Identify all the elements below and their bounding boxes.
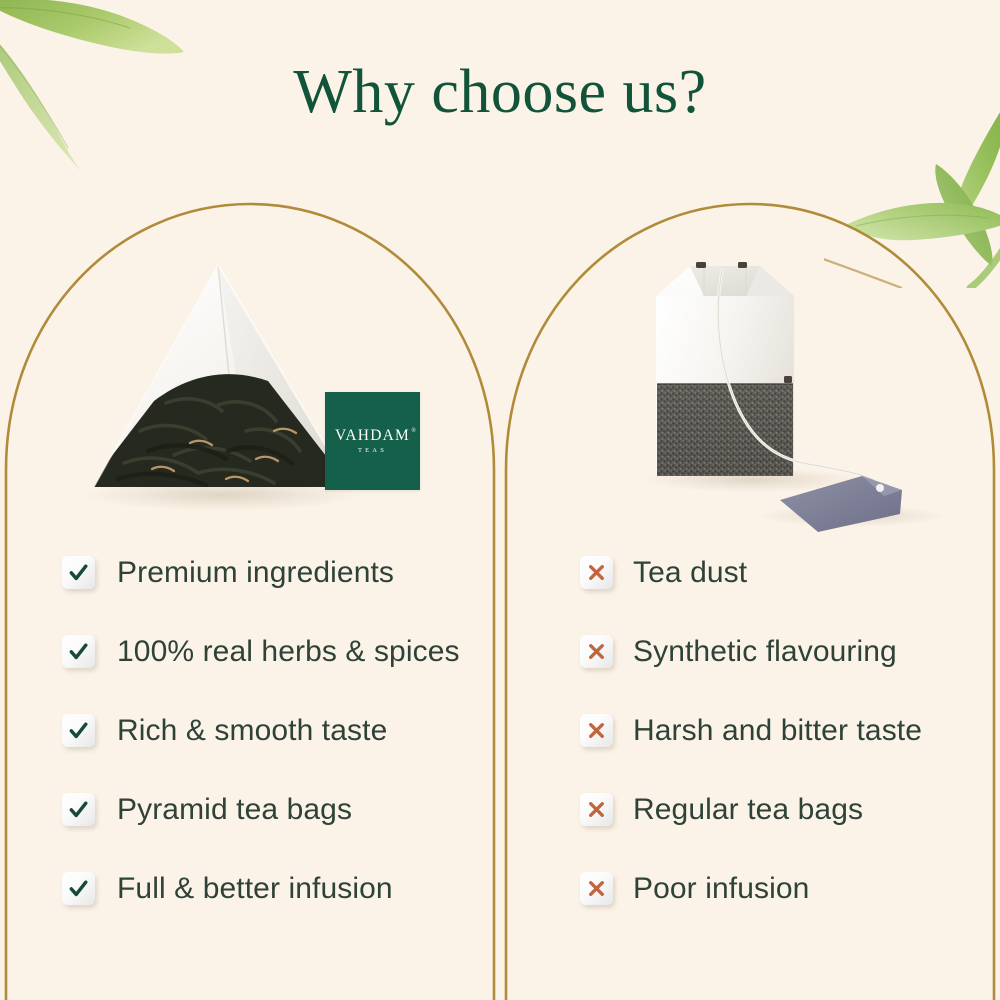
list-item: Regular tea bags (580, 770, 990, 849)
cross-icon (580, 556, 613, 589)
list-item-label: Poor infusion (633, 872, 809, 906)
list-item-label: Pyramid tea bags (117, 793, 352, 827)
benefits-list-vahdam: Premium ingredients 100% real herbs & sp… (62, 533, 492, 928)
list-item: Full & better infusion (62, 849, 492, 928)
check-icon (62, 556, 95, 589)
list-item: Synthetic flavouring (580, 612, 990, 691)
cross-icon (580, 793, 613, 826)
check-icon (62, 635, 95, 668)
drawbacks-list-others: Tea dust Synthetic flavouring Harsh and … (580, 533, 990, 928)
list-item: Rich & smooth taste (62, 691, 492, 770)
list-item: Tea dust (580, 533, 990, 612)
list-item-label: Tea dust (633, 556, 747, 590)
list-item-label: Full & better infusion (117, 872, 393, 906)
list-item: 100% real herbs & spices (62, 612, 492, 691)
why-choose-us-panel: Why choose us? (0, 0, 1000, 1000)
list-item-label: Premium ingredients (117, 556, 394, 590)
list-item-label: Synthetic flavouring (633, 635, 897, 669)
list-item: Premium ingredients (62, 533, 492, 612)
vahdam-logo-badge: VAHDAM® TEAS (325, 392, 420, 490)
list-item: Pyramid tea bags (62, 770, 492, 849)
list-item: Harsh and bitter taste (580, 691, 990, 770)
check-icon (62, 714, 95, 747)
list-item-label: Harsh and bitter taste (633, 714, 922, 748)
list-item-label: Rich & smooth taste (117, 714, 387, 748)
list-item-label: Regular tea bags (633, 793, 863, 827)
check-icon (62, 793, 95, 826)
cross-icon (580, 635, 613, 668)
cross-icon (580, 714, 613, 747)
check-icon (62, 872, 95, 905)
cross-icon (580, 872, 613, 905)
vahdam-logo-word: VAHDAM® (335, 428, 410, 444)
vahdam-logo-subtitle: TEAS (358, 448, 387, 455)
vahdam-logo-text: VAHDAM (335, 427, 410, 444)
list-item: Poor infusion (580, 849, 990, 928)
list-item-label: 100% real herbs & spices (117, 635, 460, 669)
registered-mark: ® (411, 428, 417, 434)
